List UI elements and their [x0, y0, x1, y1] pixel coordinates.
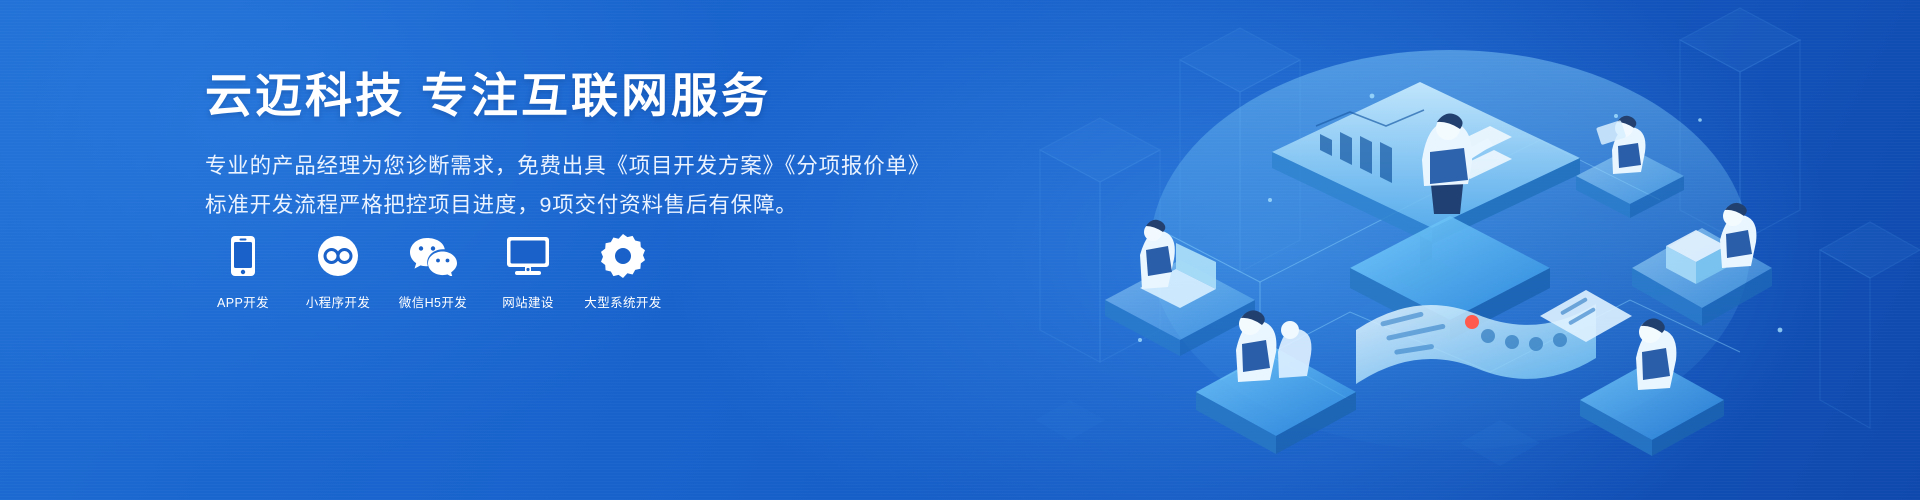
mini-program-icon — [317, 233, 359, 279]
service-label: 大型系统开发 — [584, 292, 661, 311]
isometric-data-platform-illustration — [1020, 0, 1920, 500]
subtitle-line-1: 专业的产品经理为您诊断需求，免费出具《项目开发方案》《分项报价单》 — [205, 149, 965, 184]
service-label: 小程序开发 — [306, 292, 371, 311]
service-label: 网站建设 — [502, 292, 554, 311]
service-item-app[interactable]: APP开发 — [207, 233, 279, 311]
gear-icon — [601, 233, 645, 279]
banner-copy: 云迈科技 专注互联网服务 专业的产品经理为您诊断需求，免费出具《项目开发方案》《… — [205, 66, 965, 223]
service-item-mini-program[interactable]: 小程序开发 — [302, 233, 374, 311]
service-label: APP开发 — [217, 292, 269, 311]
service-item-large-system[interactable]: 大型系统开发 — [587, 233, 659, 311]
wechat-icon — [409, 233, 457, 279]
monitor-icon — [506, 233, 550, 279]
service-item-website[interactable]: 网站建设 — [492, 233, 564, 311]
service-label: 微信H5开发 — [399, 292, 467, 311]
page-title: 云迈科技 专注互联网服务 — [205, 66, 965, 126]
subtitle-line-2: 标准开发流程严格把控项目进度，9项交付资料售后有保障。 — [205, 188, 965, 223]
mobile-phone-icon — [230, 233, 256, 279]
service-item-wechat-h5[interactable]: 微信H5开发 — [397, 233, 469, 311]
promo-banner: 云迈科技 专注互联网服务 专业的产品经理为您诊断需求，免费出具《项目开发方案》《… — [0, 0, 1920, 500]
banner-subtitle: 专业的产品经理为您诊断需求，免费出具《项目开发方案》《分项报价单》 标准开发流程… — [205, 149, 965, 223]
service-list: APP开发 小程序开发 微信 — [207, 233, 659, 311]
